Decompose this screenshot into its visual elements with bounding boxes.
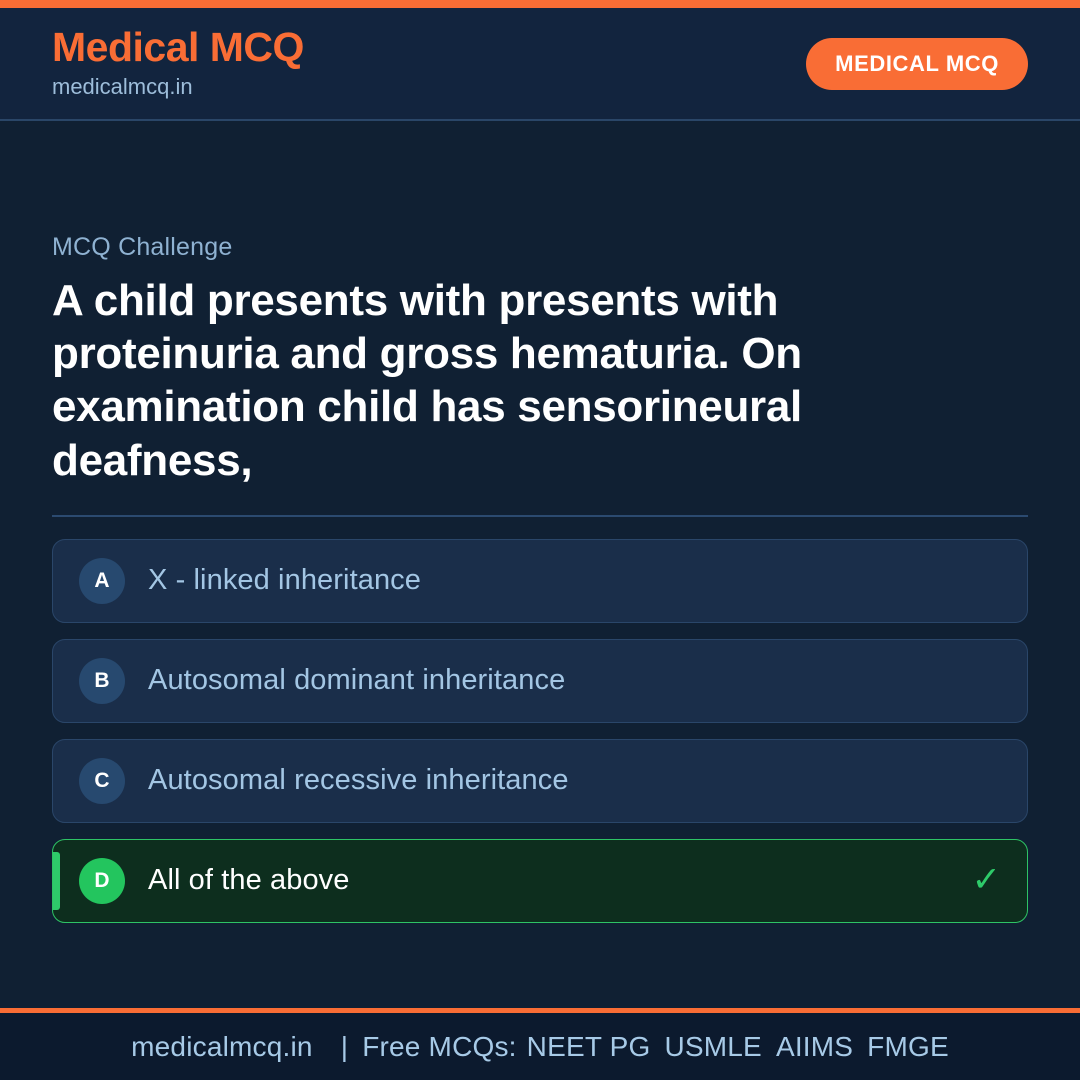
footer-label: Free MCQs: (362, 1031, 516, 1063)
top-accent-bar (0, 0, 1080, 8)
option-row-d[interactable]: D All of the above ✓ (52, 839, 1028, 923)
brand-subtitle: medicalmcq.in (52, 72, 304, 102)
option-letter-d: D (79, 858, 125, 904)
footer-exam-aiims[interactable]: AIIMS (776, 1031, 853, 1063)
option-letter-b: B (79, 658, 125, 704)
footer-exam-fmge[interactable]: FMGE (867, 1031, 949, 1063)
question-text: A child presents with presents with prot… (52, 274, 1002, 487)
footer-site[interactable]: medicalmcq.in (131, 1031, 313, 1063)
option-text-d: All of the above (148, 864, 350, 897)
brand-badge[interactable]: MEDICAL MCQ (806, 38, 1028, 90)
footer-separator: | (341, 1031, 348, 1063)
brand-block: Medical MCQ medicalmcq.in (52, 26, 304, 102)
brand-title: Medical MCQ (52, 26, 304, 69)
options-list: A X - linked inheritance B Autosomal dom… (52, 539, 1028, 923)
option-text-c: Autosomal recessive inheritance (148, 764, 569, 797)
mcq-card: Medical MCQ medicalmcq.in MEDICAL MCQ MC… (0, 0, 1080, 1080)
footer-exam-neetpg[interactable]: NEET PG (527, 1031, 651, 1063)
option-row-b[interactable]: B Autosomal dominant inheritance (52, 639, 1028, 723)
question-area: MCQ Challenge A child presents with pres… (0, 121, 1080, 1008)
option-row-a[interactable]: A X - linked inheritance (52, 539, 1028, 623)
eyebrow-label: MCQ Challenge (52, 233, 1028, 262)
option-letter-a: A (79, 558, 125, 604)
header: Medical MCQ medicalmcq.in MEDICAL MCQ (0, 8, 1080, 121)
option-text-b: Autosomal dominant inheritance (148, 664, 565, 697)
option-letter-c: C (79, 758, 125, 804)
option-row-c[interactable]: C Autosomal recessive inheritance (52, 739, 1028, 823)
section-divider (52, 515, 1028, 517)
option-text-a: X - linked inheritance (148, 564, 421, 597)
footer-exam-usmle[interactable]: USMLE (664, 1031, 761, 1063)
footer-text: medicalmcq.in | Free MCQs: NEET PG USMLE… (131, 1031, 949, 1063)
check-icon: ✓ (972, 863, 1001, 898)
selected-accent-bar (53, 852, 60, 910)
footer: medicalmcq.in | Free MCQs: NEET PG USMLE… (0, 1008, 1080, 1080)
